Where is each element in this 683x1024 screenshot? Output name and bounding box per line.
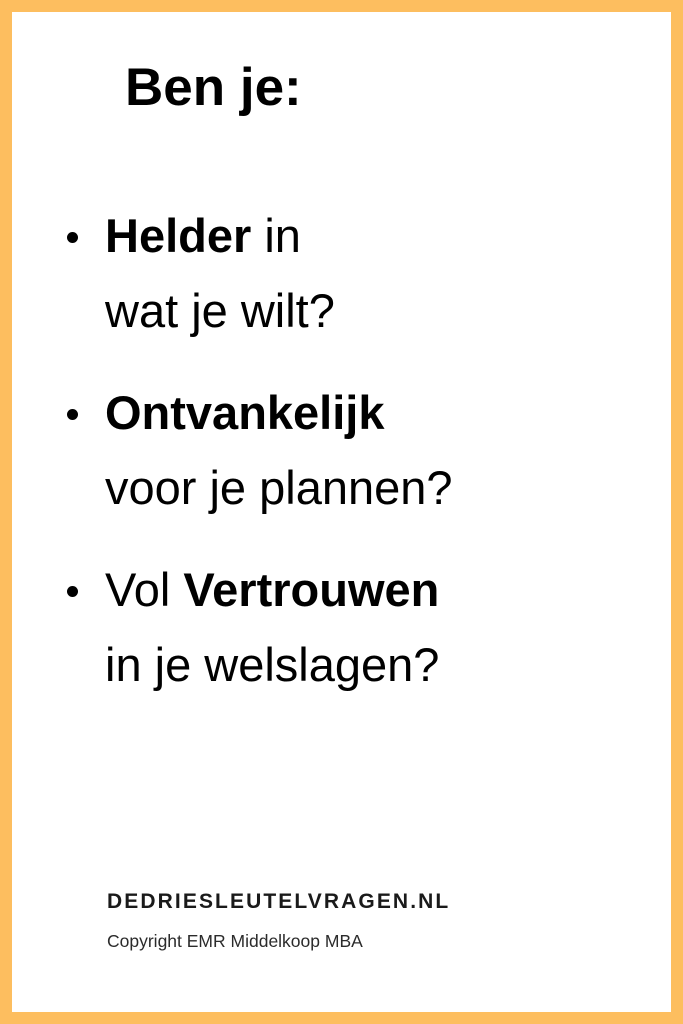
- list-item: Vol Vertrouwen in je welslagen?: [12, 562, 671, 693]
- question-secondary-line: voor je plannen?: [12, 460, 671, 515]
- question-keyword: Ontvankelijk: [105, 386, 385, 439]
- list-item: Ontvankelijk voor je plannen?: [12, 385, 671, 516]
- site-name: DEDRIESLEUTELVRAGEN.NL: [107, 890, 450, 914]
- question-list: Helder in wat je wilt? Ontvankelijk voor…: [12, 208, 671, 739]
- list-item: Helder in wat je wilt?: [12, 208, 671, 339]
- question-secondary-line: wat je wilt?: [12, 283, 671, 338]
- question-keyword: Helder: [105, 209, 251, 262]
- question-primary-tail: in: [251, 209, 301, 262]
- question-primary-line: Vol Vertrouwen: [12, 562, 671, 617]
- question-primary-line: Helder in: [12, 208, 671, 263]
- question-primary-lead: Vol: [105, 563, 183, 616]
- bullet-dot-icon: [67, 586, 78, 597]
- question-secondary-line: in je welslagen?: [12, 637, 671, 692]
- page-title: Ben je:: [125, 59, 302, 117]
- bullet-dot-icon: [67, 232, 78, 243]
- copyright-notice: Copyright EMR Middelkoop MBA: [107, 931, 450, 952]
- bullet-dot-icon: [67, 409, 78, 420]
- question-keyword: Vertrouwen: [183, 563, 439, 616]
- question-primary-line: Ontvankelijk: [12, 385, 671, 440]
- poster-canvas: Ben je: Helder in wat je wilt? Ontvankel…: [0, 0, 683, 1024]
- poster-inner-card: Ben je: Helder in wat je wilt? Ontvankel…: [12, 12, 671, 1012]
- footer: DEDRIESLEUTELVRAGEN.NL Copyright EMR Mid…: [107, 890, 450, 952]
